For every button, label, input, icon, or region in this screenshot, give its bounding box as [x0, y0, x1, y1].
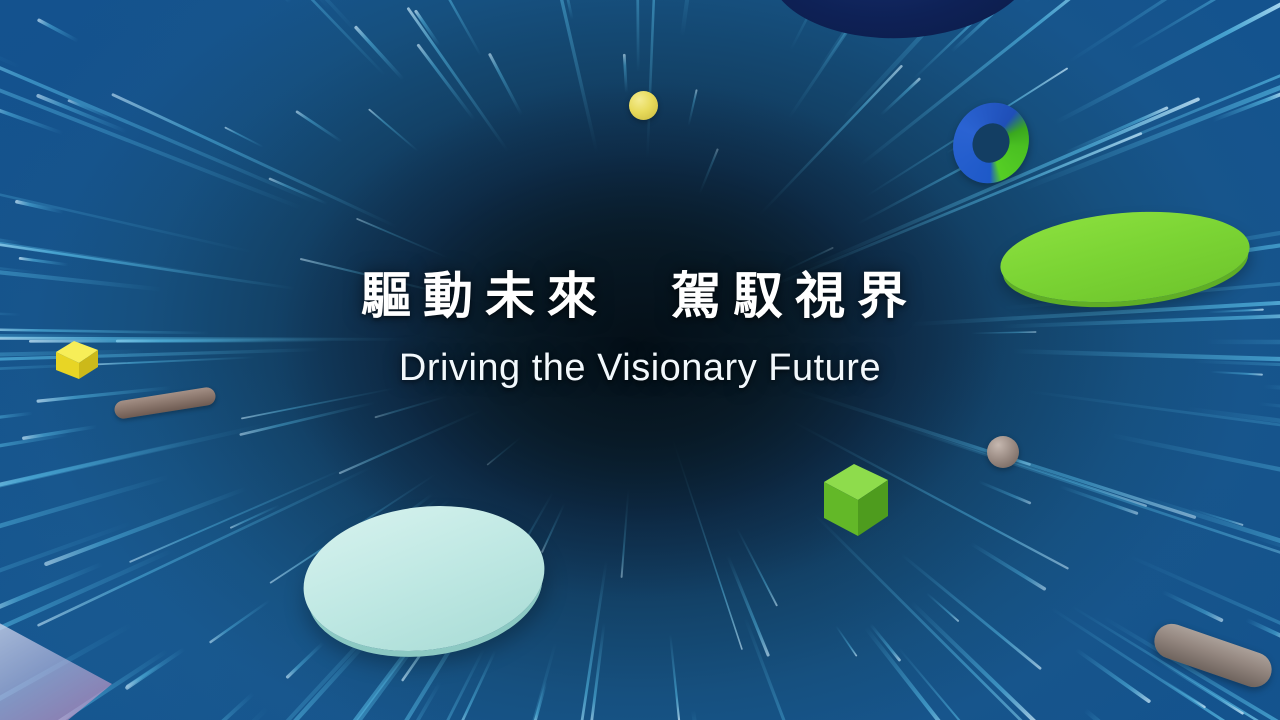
yellow-sphere — [629, 91, 658, 120]
headline-block: 驅動未來 駕馭視界 Driving the Visionary Future — [0, 264, 1280, 392]
green-cube — [818, 460, 896, 540]
lavender-triangle-shard — [0, 600, 140, 720]
page-title-chinese: 驅動未來 駕馭視界 — [0, 264, 1280, 328]
page-subtitle-english: Driving the Visionary Future — [0, 344, 1280, 392]
video-title-card: 驅動未來 駕馭視界 Driving the Visionary Future — [0, 0, 1280, 720]
gray-sphere — [987, 436, 1019, 468]
